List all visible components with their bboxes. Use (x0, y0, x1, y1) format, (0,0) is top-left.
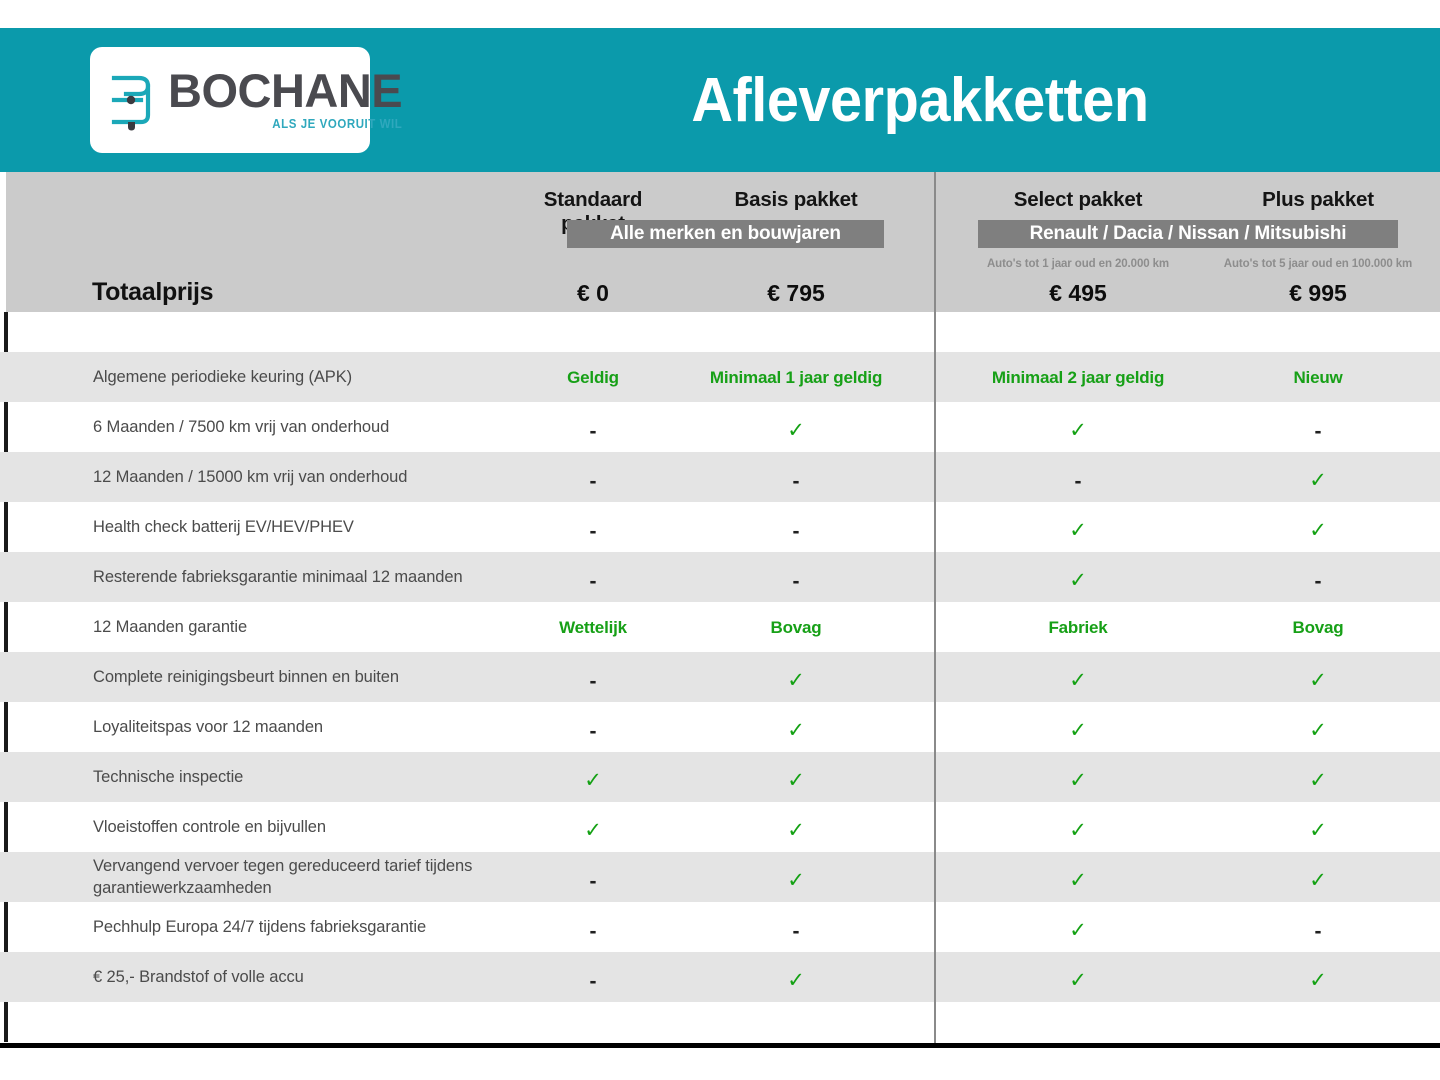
column-title-select: Select pakket (948, 188, 1208, 212)
price-select: € 495 (948, 280, 1208, 307)
total-price-label: Totaalprijs (92, 278, 213, 307)
table-row: € 25,- Brandstof of volle accu-✓✓✓ (0, 952, 1440, 1002)
check-icon: ✓ (1069, 770, 1087, 791)
table-row: Technische inspectie✓✓✓✓ (0, 752, 1440, 802)
check-icon: ✓ (787, 670, 805, 691)
table-cell: ✓ (948, 402, 1208, 452)
logo-dot-icon (127, 96, 135, 104)
row-tick-icon (4, 502, 8, 552)
cell-value-text: Bovag (771, 618, 822, 638)
price-standaard: € 0 (513, 280, 673, 307)
table-cell: - (513, 702, 673, 752)
group-band-renault-dacia-nissan-mitsubishi: Renault / Dacia / Nissan / Mitsubishi (978, 220, 1398, 248)
row-label: 6 Maanden / 7500 km vrij van onderhoud (93, 402, 513, 452)
check-icon: ✓ (1309, 520, 1327, 541)
dash-icon: - (1315, 571, 1322, 592)
dash-icon: - (590, 571, 597, 592)
cell-value-text: Nieuw (1293, 368, 1342, 388)
group-band-alle-merken: Alle merken en bouwjaren (567, 220, 884, 248)
table-cell: ✓ (673, 702, 919, 752)
table-cell: ✓ (948, 852, 1208, 902)
table-cell: - (1208, 402, 1428, 452)
table-cell: - (1208, 552, 1428, 602)
logo-plug-icon (128, 122, 135, 131)
page-root: BOCHANE ALS JE VOORUIT WIL Afleverpakket… (0, 0, 1440, 1080)
cell-value-text: Minimaal 1 jaar geldig (710, 368, 882, 388)
table-body: Algemene periodieke keuring (APK)GeldigM… (0, 352, 1440, 1042)
table-row: 12 Maanden garantieWettelijkBovagFabriek… (0, 602, 1440, 652)
dash-icon: - (590, 421, 597, 442)
row-label: Health check batterij EV/HEV/PHEV (93, 502, 513, 552)
row-label: Vervangend vervoer tegen gereduceerd tar… (93, 852, 513, 902)
packages-comparison-table: Standaard pakket Basis pakket Select pak… (0, 172, 1440, 1048)
table-cell: ✓ (948, 752, 1208, 802)
cell-value-text: Geldig (567, 368, 619, 388)
cell-value-text: Minimaal 2 jaar geldig (992, 368, 1164, 388)
check-icon: ✓ (1069, 570, 1087, 591)
dash-icon: - (1315, 421, 1322, 442)
table-cell: ✓ (1208, 802, 1428, 852)
table-cell: - (513, 852, 673, 902)
row-tick-icon (4, 1002, 8, 1042)
table-cell: ✓ (1208, 502, 1428, 552)
table-cell: ✓ (673, 802, 919, 852)
row-label: Pechhulp Europa 24/7 tijdens fabrieksgar… (93, 902, 513, 952)
table-cell: ✓ (673, 752, 919, 802)
table-cell: - (513, 452, 673, 502)
table-cell: Wettelijk (513, 602, 673, 652)
check-icon: ✓ (787, 870, 805, 891)
check-icon: ✓ (1069, 920, 1087, 941)
page-header: BOCHANE ALS JE VOORUIT WIL Afleverpakket… (0, 28, 1440, 172)
table-cell: - (673, 452, 919, 502)
table-cell: ✓ (673, 402, 919, 452)
table-cell: - (673, 552, 919, 602)
row-label: Resterende fabrieksgarantie minimaal 12 … (93, 552, 513, 602)
check-icon: ✓ (1309, 720, 1327, 741)
page-title: Afleverpakketten (436, 28, 1403, 172)
table-row: Resterende fabrieksgarantie minimaal 12 … (0, 552, 1440, 602)
table-cell: ✓ (513, 802, 673, 852)
table-cell: ✓ (673, 852, 919, 902)
table-cell: ✓ (948, 952, 1208, 1002)
dash-icon: - (793, 571, 800, 592)
table-row: Pechhulp Europa 24/7 tijdens fabrieksgar… (0, 902, 1440, 952)
dash-icon: - (793, 921, 800, 942)
dash-icon: - (590, 971, 597, 992)
dash-icon: - (590, 671, 597, 692)
dash-icon: - (793, 521, 800, 542)
table-spacer-row-bottom (0, 1002, 1440, 1042)
check-icon: ✓ (1309, 770, 1327, 791)
row-label: Vloeistoffen controle en bijvullen (93, 802, 513, 852)
dash-icon: - (1315, 921, 1322, 942)
table-cell: - (673, 502, 919, 552)
table-cell: ✓ (948, 702, 1208, 752)
row-label: 12 Maanden garantie (93, 602, 513, 652)
table-row: Algemene periodieke keuring (APK)GeldigM… (0, 352, 1440, 402)
check-icon: ✓ (1069, 820, 1087, 841)
table-row: 12 Maanden / 15000 km vrij van onderhoud… (0, 452, 1440, 502)
cell-value-text: Wettelijk (559, 618, 627, 638)
table-cell: Fabriek (948, 602, 1208, 652)
row-tick-icon (4, 902, 8, 952)
table-cell: ✓ (673, 952, 919, 1002)
column-title-plus: Plus pakket (1208, 188, 1428, 212)
check-icon: ✓ (1309, 970, 1327, 991)
table-cell: - (513, 652, 673, 702)
table-cell: ✓ (1208, 452, 1428, 502)
table-row: Health check batterij EV/HEV/PHEV--✓✓ (0, 502, 1440, 552)
brand-name: BOCHANE (168, 69, 402, 114)
check-icon: ✓ (584, 770, 602, 791)
row-tick-icon (4, 312, 8, 352)
check-icon: ✓ (1069, 870, 1087, 891)
table-row: Vervangend vervoer tegen gereduceerd tar… (0, 852, 1440, 902)
check-icon: ✓ (1069, 970, 1087, 991)
table-cell: ✓ (1208, 652, 1428, 702)
row-label: € 25,- Brandstof of volle accu (93, 952, 513, 1002)
table-cell: ✓ (1208, 852, 1428, 902)
table-row: 6 Maanden / 7500 km vrij van onderhoud-✓… (0, 402, 1440, 452)
table-cell: - (948, 452, 1208, 502)
table-row: Loyaliteitspas voor 12 maanden-✓✓✓ (0, 702, 1440, 752)
brand-tagline: ALS JE VOORUIT WIL (272, 118, 402, 131)
price-plus: € 995 (1208, 280, 1428, 307)
cell-value-text: Fabriek (1048, 618, 1107, 638)
row-tick-icon (4, 702, 8, 752)
table-cell: ✓ (948, 652, 1208, 702)
table-row: Complete reinigingsbeurt binnen en buite… (0, 652, 1440, 702)
table-cell: - (513, 552, 673, 602)
table-row: Vloeistoffen controle en bijvullen✓✓✓✓ (0, 802, 1440, 852)
dash-icon: - (590, 521, 597, 542)
row-tick-icon (4, 402, 8, 452)
check-icon: ✓ (787, 970, 805, 991)
dash-icon: - (590, 721, 597, 742)
table-cell: - (513, 402, 673, 452)
row-label: Complete reinigingsbeurt binnen en buite… (93, 652, 513, 702)
check-icon: ✓ (584, 820, 602, 841)
table-cell: Geldig (513, 352, 673, 402)
table-cell: ✓ (948, 802, 1208, 852)
check-icon: ✓ (1309, 470, 1327, 491)
table-cell: ✓ (1208, 752, 1428, 802)
header-left-notch (0, 172, 6, 312)
row-tick-icon (4, 802, 8, 852)
check-icon: ✓ (787, 720, 805, 741)
table-cell: ✓ (513, 752, 673, 802)
column-title-basis: Basis pakket (673, 188, 919, 212)
dash-icon: - (590, 921, 597, 942)
brand-logo: BOCHANE ALS JE VOORUIT WIL (90, 47, 370, 153)
row-label: 12 Maanden / 15000 km vrij van onderhoud (93, 452, 513, 502)
cell-value-text: Bovag (1293, 618, 1344, 638)
table-cell: Minimaal 2 jaar geldig (948, 352, 1208, 402)
table-cell: - (513, 902, 673, 952)
check-icon: ✓ (1069, 520, 1087, 541)
check-icon: ✓ (787, 820, 805, 841)
table-cell: Minimaal 1 jaar geldig (673, 352, 919, 402)
table-cell: ✓ (948, 902, 1208, 952)
dash-icon: - (590, 871, 597, 892)
table-cell: ✓ (948, 552, 1208, 602)
column-group-divider (934, 172, 936, 1043)
table-cell: ✓ (948, 502, 1208, 552)
table-cell: Bovag (673, 602, 919, 652)
check-icon: ✓ (1069, 420, 1087, 441)
table-cell: ✓ (673, 652, 919, 702)
table-cell: ✓ (1208, 702, 1428, 752)
check-icon: ✓ (1309, 820, 1327, 841)
table-spacer-row-top (0, 312, 1440, 352)
row-label: Technische inspectie (93, 752, 513, 802)
column-subtitle-select: Auto's tot 1 jaar oud en 20.000 km (948, 258, 1208, 270)
bochane-b-mark-icon (108, 69, 162, 131)
price-basis: € 795 (673, 280, 919, 307)
table-cell: - (513, 502, 673, 552)
check-icon: ✓ (787, 770, 805, 791)
column-subtitle-plus: Auto's tot 5 jaar oud en 100.000 km (1208, 258, 1428, 270)
check-icon: ✓ (1069, 720, 1087, 741)
row-tick-icon (4, 602, 8, 652)
dash-icon: - (1075, 471, 1082, 492)
check-icon: ✓ (1309, 870, 1327, 891)
dash-icon: - (590, 471, 597, 492)
check-icon: ✓ (1309, 670, 1327, 691)
table-cell: - (673, 902, 919, 952)
row-label: Algemene periodieke keuring (APK) (93, 352, 513, 402)
table-cell: ✓ (1208, 952, 1428, 1002)
table-cell: - (1208, 902, 1428, 952)
table-cell: Bovag (1208, 602, 1428, 652)
table-cell: - (513, 952, 673, 1002)
check-icon: ✓ (1069, 670, 1087, 691)
row-label: Loyaliteitspas voor 12 maanden (93, 702, 513, 752)
dash-icon: - (793, 471, 800, 492)
table-column-header: Standaard pakket Basis pakket Select pak… (0, 172, 1440, 312)
table-cell: Nieuw (1208, 352, 1428, 402)
check-icon: ✓ (787, 420, 805, 441)
